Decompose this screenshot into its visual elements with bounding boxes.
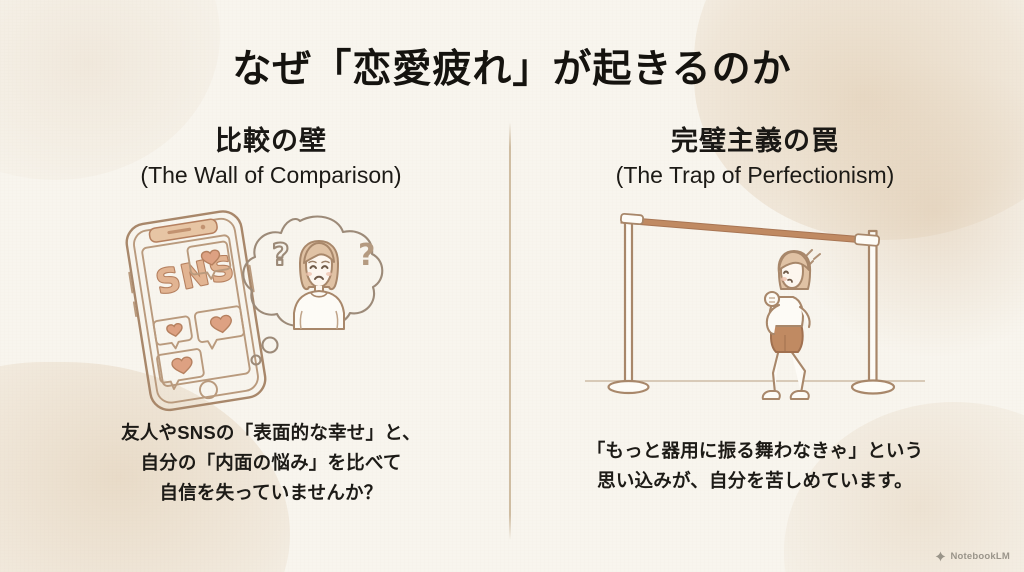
column-heading-jp-left: 比較の壁 bbox=[36, 126, 506, 157]
jumper-figure bbox=[763, 250, 820, 399]
right-standard bbox=[852, 231, 894, 394]
smartphone-sns-illustration: .ln { fill:none; stroke:#a8876a; stroke-… bbox=[106, 203, 436, 415]
column-divider bbox=[509, 122, 511, 540]
column-comparison: 比較の壁 (The Wall of Comparison) .ln { fill… bbox=[36, 126, 506, 508]
column-heading-en-left: (The Wall of Comparison) bbox=[36, 161, 506, 191]
caption-line: 自分の「内面の悩み」を比べて bbox=[36, 448, 506, 478]
crossbar bbox=[621, 214, 880, 246]
notebooklm-watermark: NotebookLM bbox=[935, 551, 1010, 562]
caption-line: 「もっと器用に振る舞わなきゃ」という bbox=[520, 436, 990, 466]
caption-perfectionism: 「もっと器用に振る舞わなきゃ」という 思い込みが、自分を苦しめています。 bbox=[520, 436, 990, 496]
slide-canvas: なぜ「恋愛疲れ」が起きるのか 比較の壁 (The Wall of Compari… bbox=[0, 0, 1024, 572]
high-jump-illustration: .pole { fill:#fdfbf6; stroke:#a8876a; st… bbox=[585, 203, 925, 415]
column-heading-en-right: (The Trap of Perfectionism) bbox=[520, 161, 990, 191]
svg-text:?: ? bbox=[272, 238, 289, 273]
column-perfectionism: 完璧主義の罠 (The Trap of Perfectionism) .pole… bbox=[520, 126, 990, 496]
caption-line: 思い込みが、自分を苦しめています。 bbox=[520, 466, 990, 496]
notebooklm-watermark-label: NotebookLM bbox=[950, 551, 1010, 562]
slide-title: なぜ「恋愛疲れ」が起きるのか bbox=[0, 38, 1024, 94]
svg-text:?: ? bbox=[358, 238, 375, 273]
caption-line: 自信を失っていませんか？ bbox=[36, 478, 506, 508]
notebooklm-spark-icon bbox=[935, 551, 946, 562]
illustration-comparison: .ln { fill:none; stroke:#a8876a; stroke-… bbox=[36, 203, 506, 418]
caption-comparison: 友人やSNSの「表面的な幸せ」と、 自分の「内面の悩み」を比べて 自信を失ってい… bbox=[36, 418, 506, 508]
left-standard bbox=[609, 215, 649, 393]
illustration-perfectionism: .pole { fill:#fdfbf6; stroke:#a8876a; st… bbox=[520, 203, 990, 418]
caption-line: 友人やSNSの「表面的な幸せ」と、 bbox=[36, 418, 506, 448]
column-heading-jp-right: 完璧主義の罠 bbox=[520, 126, 990, 157]
